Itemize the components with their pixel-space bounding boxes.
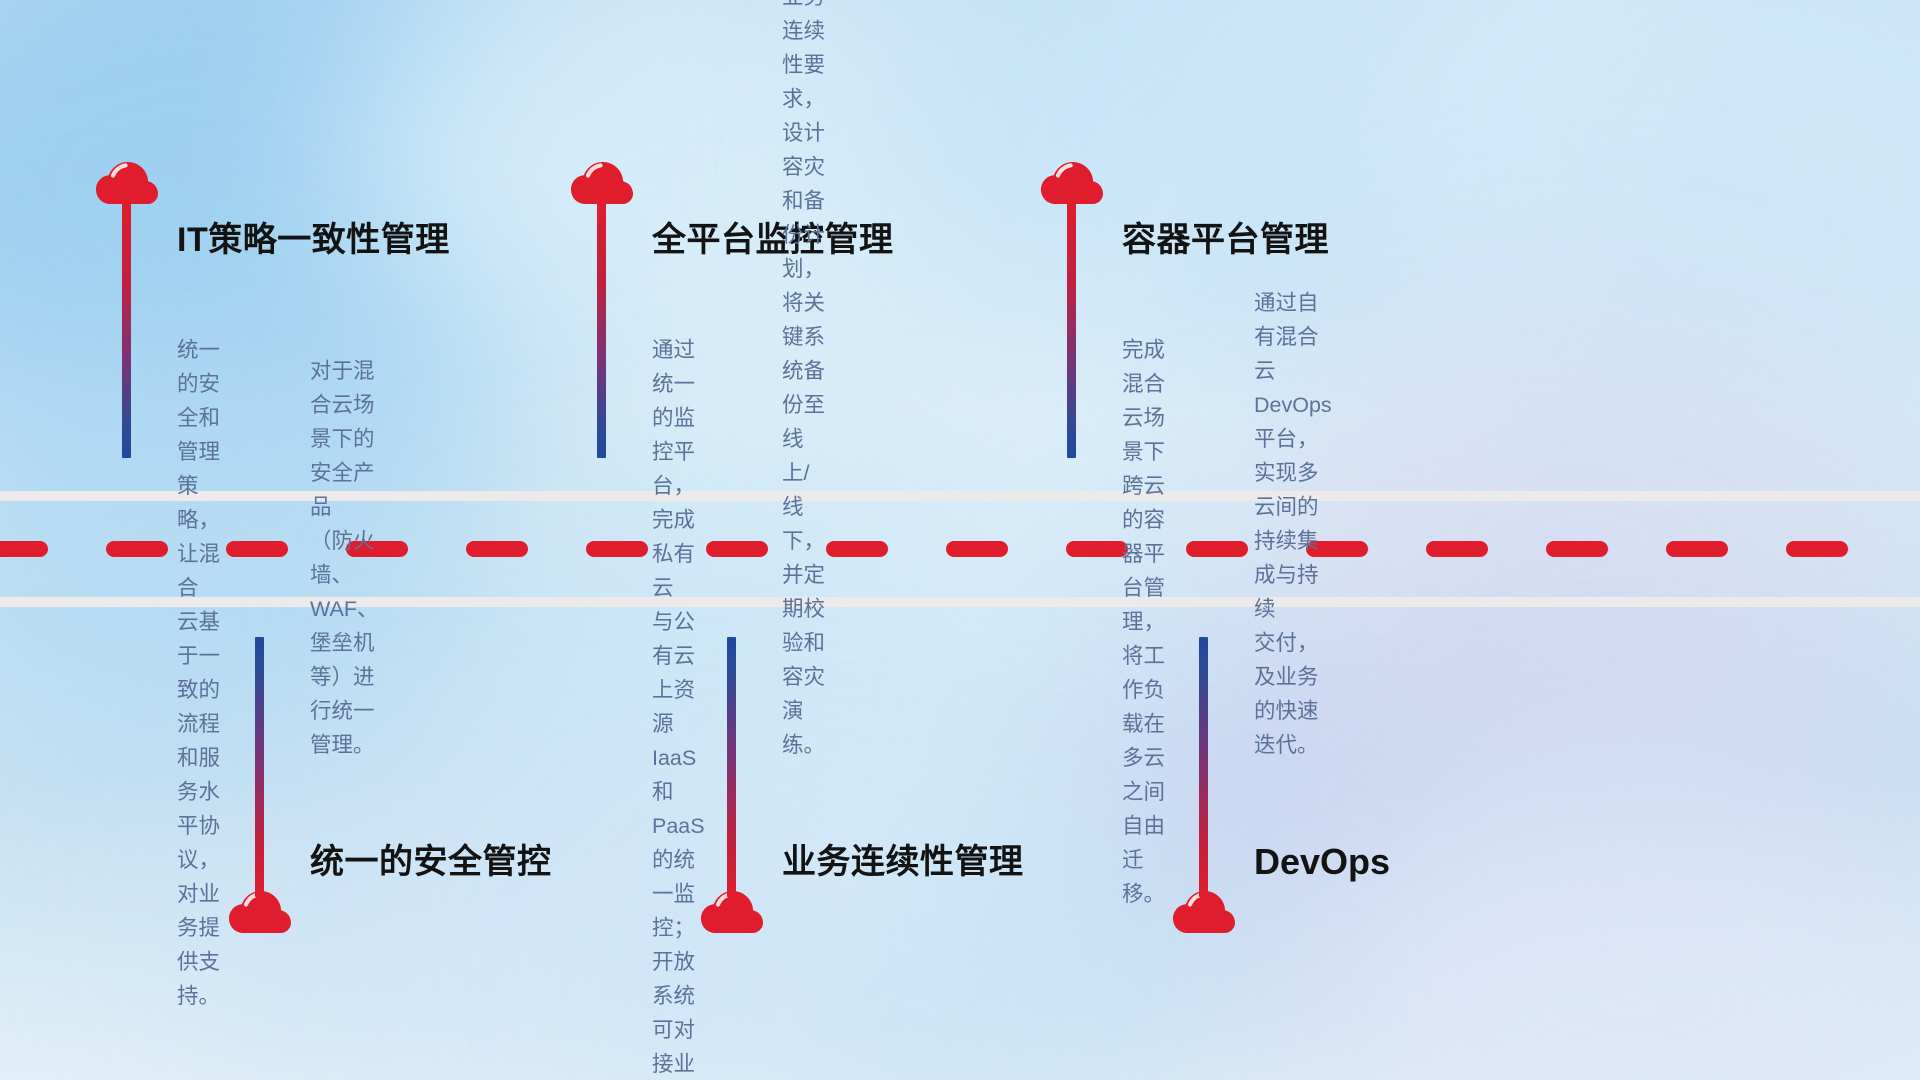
bottom-item-title: 业务连续性管理 xyxy=(782,834,1024,883)
marker-stem xyxy=(122,198,131,458)
top-item-title: 容器平台管理 xyxy=(1122,212,1329,261)
road-edge-top xyxy=(0,491,1920,501)
road-dash-segment xyxy=(1066,541,1128,557)
marker-stem xyxy=(255,637,264,897)
top-item-body: 完成混合云场景下跨云的容器平 台管理，将工作负载在多云之间 自由迁移。 xyxy=(1122,333,1165,911)
road-dash-segment xyxy=(946,541,1008,557)
road-dash-segment xyxy=(826,541,888,557)
top-item-title: IT策略一致性管理 xyxy=(177,212,450,261)
road-center-dashes xyxy=(0,541,1920,557)
road-dash-segment xyxy=(466,541,528,557)
top-item-title: 全平台监控管理 xyxy=(652,212,894,261)
road-dash-segment xyxy=(0,541,48,557)
bottom-item-body: 根据业务连续性要求，设计容灾 和备份计划，将关键系统备份至 线上/线下，并定期校… xyxy=(782,0,825,762)
marker-stem xyxy=(1067,198,1076,458)
marker-stem xyxy=(1199,637,1208,897)
road-dash-segment xyxy=(1186,541,1248,557)
bottom-item-body: 对于混合云场景下的安全产品 （防火墙、WAF、堡垒机等）进 行统一管理。 xyxy=(310,354,378,762)
road-edge-bottom xyxy=(0,597,1920,607)
infographic-canvas: IT策略一致性管理 统一的安全和管理策略，让混合 云基于一致的流程和服务水平协 … xyxy=(0,0,1920,1080)
marker-stem xyxy=(727,637,736,897)
road-dash-segment xyxy=(226,541,288,557)
bottom-item-title: DevOps xyxy=(1254,841,1390,883)
road-dash-segment xyxy=(586,541,648,557)
bottom-item-title: 统一的安全管控 xyxy=(310,834,552,883)
road-dash-segment xyxy=(1666,541,1728,557)
bottom-item-body: 通过自有混合云DevOps平台， 实现多云间的持续集成与持续 交付，及业务的快速… xyxy=(1254,286,1332,762)
top-item-body: 统一的安全和管理策略，让混合 云基于一致的流程和服务水平协 议，对业务提供支持。 xyxy=(177,333,220,1013)
road-dash-segment xyxy=(1786,541,1848,557)
top-item-body: 通过统一的监控平台，完成私有云 与公有云上资源IaaS和PaaS的统 一监控；开… xyxy=(652,333,705,1080)
road-dash-segment xyxy=(706,541,768,557)
road-dash-segment xyxy=(1546,541,1608,557)
road-dash-segment xyxy=(1426,541,1488,557)
marker-stem xyxy=(597,198,606,458)
road-dash-segment xyxy=(106,541,168,557)
